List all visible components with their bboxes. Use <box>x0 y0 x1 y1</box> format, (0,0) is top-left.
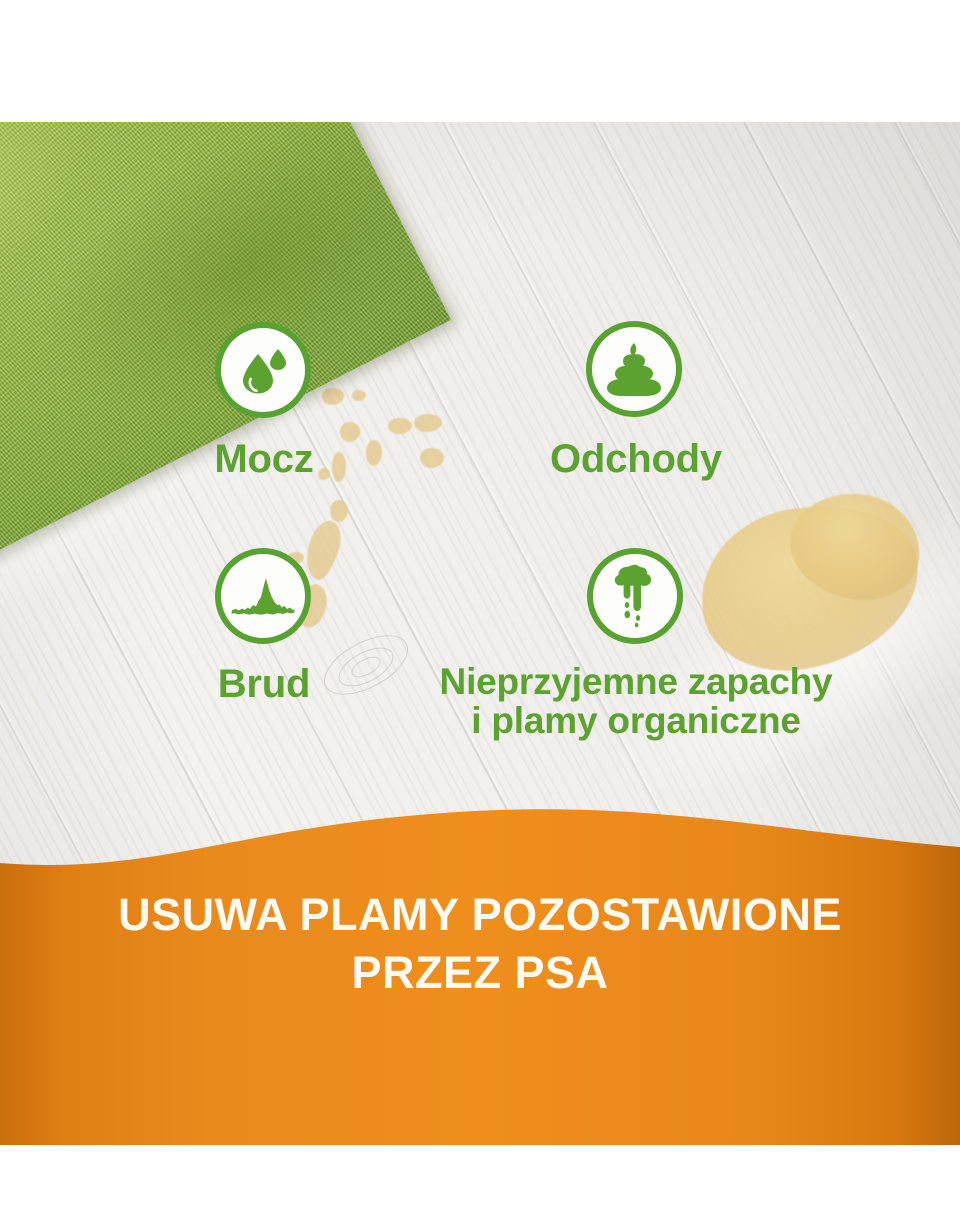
banner-headline-line1: USUWA PLAMY POZOSTAWIONE <box>0 886 960 944</box>
poop-icon <box>603 341 665 397</box>
drip-stain-icon <box>612 564 658 628</box>
feature-label-odchody: Odchody <box>372 437 900 482</box>
promo-graphic: Mocz Odchody Brud <box>0 0 960 1214</box>
bottom-white-margin <box>0 1145 960 1214</box>
feature-label-zapachy-line2: i plamy organiczne <box>471 700 801 741</box>
top-white-margin <box>0 0 960 122</box>
odchody-icon-circle <box>586 321 682 417</box>
mocz-icon-circle <box>215 322 311 418</box>
brud-icon-circle <box>215 548 311 644</box>
orange-wave-banner: USUWA PLAMY POZOSTAWIONE PRZEZ PSA <box>0 800 960 1145</box>
water-drop-icon <box>234 341 292 399</box>
feature-label-zapachy: Nieprzyjemne zapachy i plamy organiczne <box>386 662 886 740</box>
feature-label-zapachy-line1: Nieprzyjemne zapachy <box>440 661 833 702</box>
dirt-pile-icon <box>230 574 296 618</box>
banner-headline-line2: PRZEZ PSA <box>0 944 960 1002</box>
zapachy-icon-circle <box>587 548 683 644</box>
banner-headline: USUWA PLAMY POZOSTAWIONE PRZEZ PSA <box>0 886 960 1001</box>
